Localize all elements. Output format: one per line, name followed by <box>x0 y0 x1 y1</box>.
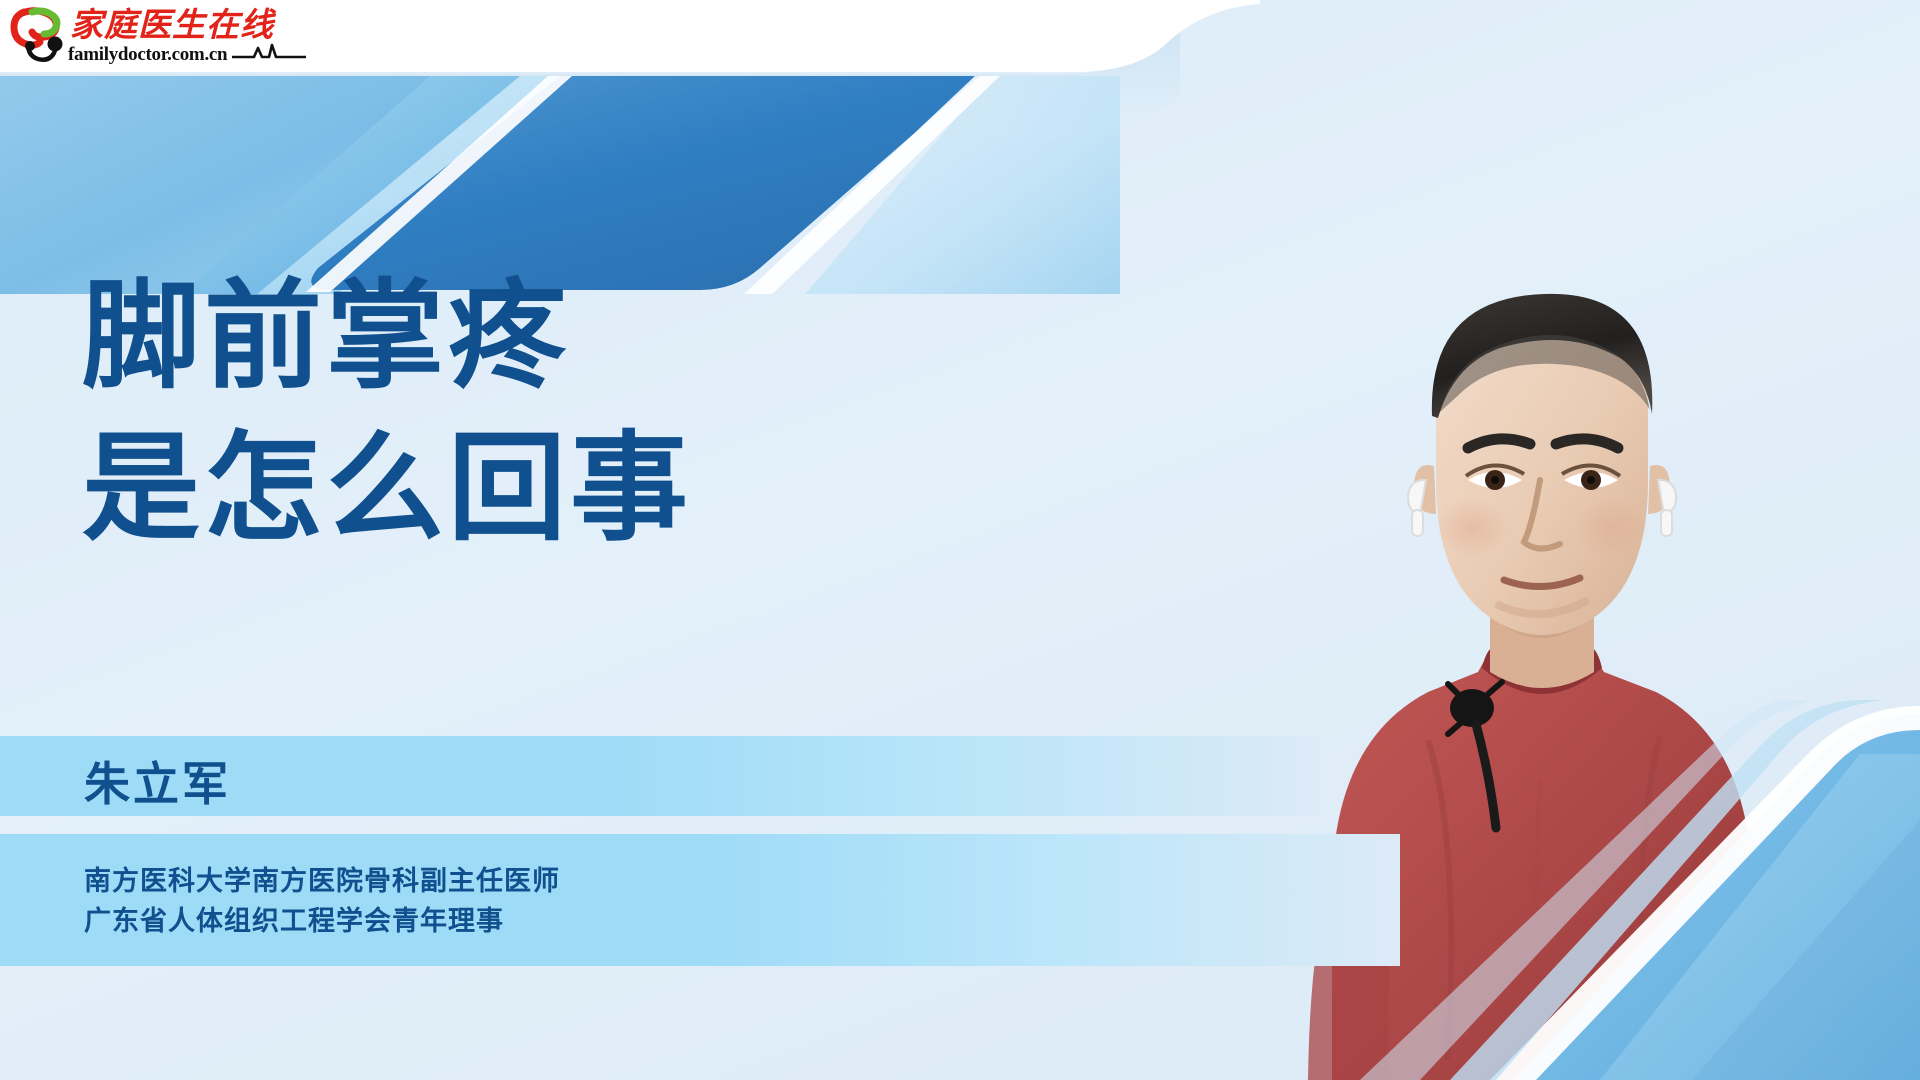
title-line-2: 是怎么回事 <box>82 417 692 561</box>
logo-chinese-text: 家庭医生在线 <box>70 5 277 44</box>
ecg-line-icon <box>232 45 306 57</box>
credential-line-1: 南方医科大学南方医院骨科副主任医师 <box>84 862 560 902</box>
credential-line-2: 广东省人体组织工程学会青年理事 <box>84 902 560 942</box>
speaker-credentials: 南方医科大学南方医院骨科副主任医师 广东省人体组织工程学会青年理事 <box>84 862 560 942</box>
presenter-head <box>1414 294 1670 635</box>
logo-url-text: familydoctor.com.cn <box>68 44 228 65</box>
background-decoration-bottom-right <box>1300 700 1920 1080</box>
stethoscope-icon <box>14 11 63 60</box>
page-title: 脚前掌疼 是怎么回事 <box>82 265 692 561</box>
speaker-name: 朱立军 <box>84 748 231 814</box>
video-title-card: 家庭医生在线 familydoctor.com.cn <box>0 0 1920 1080</box>
title-line-1: 脚前掌疼 <box>82 265 692 409</box>
brand-logo[interactable]: 家庭医生在线 familydoctor.com.cn <box>10 2 340 68</box>
